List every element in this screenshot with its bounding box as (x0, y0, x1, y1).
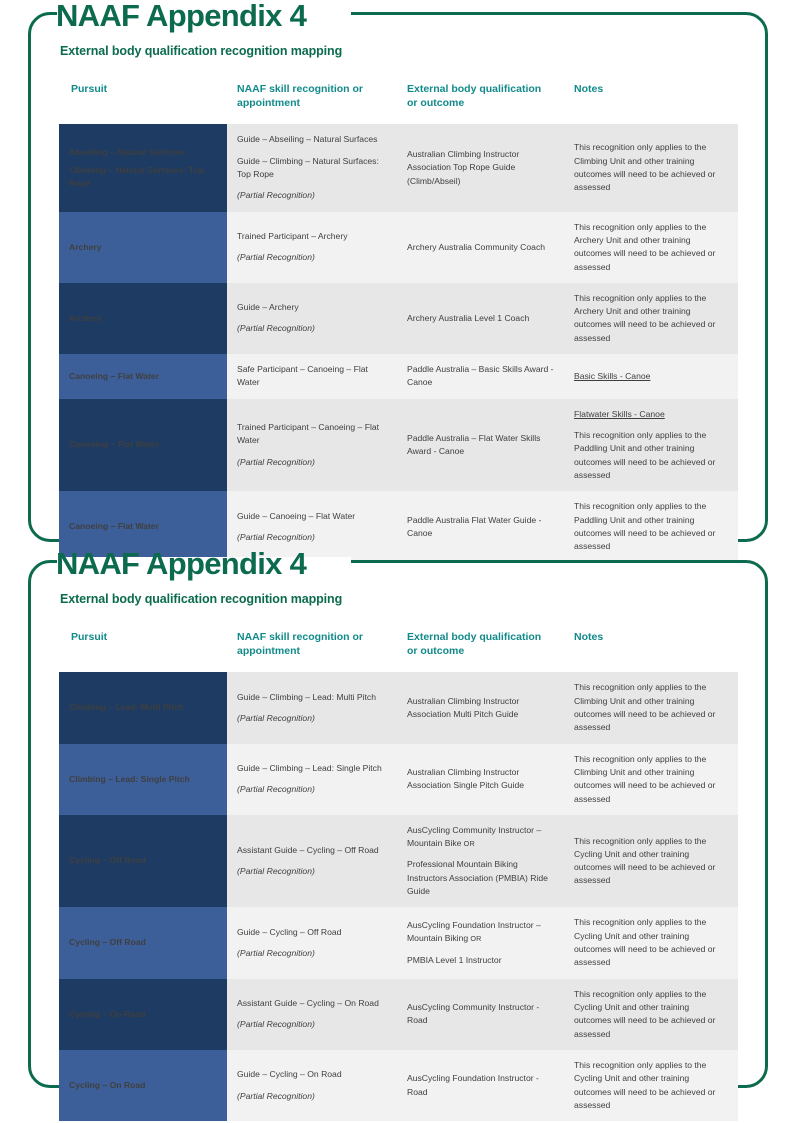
cell-notes: This recognition only applies to the Cyc… (564, 907, 738, 978)
cell-notes: Flatwater Skills - CanoeThis recognition… (564, 399, 738, 492)
cell-naaf-skill: Guide – Climbing – Lead: Single Pitch(Pa… (227, 744, 397, 815)
external-qualification-line: Professional Mountain Biking Instructors… (407, 858, 554, 898)
document-page: NAAF Appendix 4 External body qualificat… (0, 0, 794, 1123)
cell-naaf-skill: Guide – Abseiling – Natural SurfacesGuid… (227, 124, 397, 211)
column-header-external-body: External body qualification or outcome (397, 620, 564, 672)
notes-text: This recognition only applies to the Cyc… (574, 835, 728, 888)
external-qualification-line: Australian Climbing Instructor Associati… (407, 695, 554, 722)
cell-external-qualification: Australian Climbing Instructor Associati… (397, 672, 564, 743)
skill-line: Guide – Climbing – Lead: Multi Pitch (237, 691, 387, 704)
table-row: Cycling – Off RoadAssistant Guide – Cycl… (59, 815, 738, 908)
notes-text: This recognition only applies to the Arc… (574, 292, 728, 345)
cell-naaf-skill: Guide – Cycling – Off Road(Partial Recog… (227, 907, 397, 978)
table-body: Abseiling – Natural SurfacesClimbing – N… (59, 124, 738, 562)
skill-line: Guide – Abseiling – Natural Surfaces (237, 133, 387, 146)
partial-recognition-note: (Partial Recognition) (237, 322, 387, 335)
notes-text: This recognition only applies to the Cyc… (574, 1059, 728, 1112)
pursuit-line: Canoeing – Flat Water (69, 370, 217, 383)
skill-line: Trained Participant – Canoeing – Flat Wa… (237, 421, 387, 448)
partial-recognition-note: (Partial Recognition) (237, 783, 387, 796)
pursuit-line: Climbing – Natural Surfaces: Top Rope (69, 164, 217, 191)
partial-recognition-note: (Partial Recognition) (237, 1090, 387, 1103)
cell-notes: This recognition only applies to the Arc… (564, 212, 738, 283)
cell-external-qualification: AusCycling Foundation Instructor - Road (397, 1050, 564, 1121)
notes-text: This recognition only applies to the Pad… (574, 500, 728, 553)
partial-recognition-note: (Partial Recognition) (237, 712, 387, 725)
cell-external-qualification: Paddle Australia Flat Water Guide - Cano… (397, 491, 564, 562)
skill-line: Guide – Archery (237, 301, 387, 314)
notes-link[interactable]: Flatwater Skills - Canoe (574, 409, 665, 419)
pursuit-line: Cycling – On Road (69, 1008, 217, 1021)
pursuit-line: Cycling – Off Road (69, 854, 217, 867)
skill-line: Guide – Canoeing – Flat Water (237, 510, 387, 523)
qualification-mapping-table: Pursuit NAAF skill recognition or appoin… (59, 72, 738, 563)
table-row: ArcheryGuide – Archery(Partial Recogniti… (59, 283, 738, 354)
cell-external-qualification: AusCycling Community Instructor - Road (397, 979, 564, 1050)
skill-line: Assistant Guide – Cycling – On Road (237, 997, 387, 1010)
pursuit-line: Cycling – Off Road (69, 936, 217, 949)
notes-text: This recognition only applies to the Arc… (574, 221, 728, 274)
cell-naaf-skill: Assistant Guide – Cycling – On Road(Part… (227, 979, 397, 1050)
page-title: NAAF Appendix 4 (56, 548, 306, 579)
cell-external-qualification: AusCycling Community Instructor – Mounta… (397, 815, 564, 908)
external-qualification-line: AusCycling Community Instructor – Mounta… (407, 824, 554, 851)
appendix-card-2: NAAF Appendix 4 External body qualificat… (28, 560, 768, 1088)
cell-naaf-skill: Guide – Climbing – Lead: Multi Pitch(Par… (227, 672, 397, 743)
table-header-row: Pursuit NAAF skill recognition or appoin… (59, 620, 738, 672)
cell-external-qualification: Australian Climbing Instructor Associati… (397, 124, 564, 211)
cell-pursuit: Archery (59, 212, 227, 283)
appendix-card-1: NAAF Appendix 4 External body qualificat… (28, 12, 768, 542)
partial-recognition-note: (Partial Recognition) (237, 865, 387, 878)
external-qualification-line: AusCycling Foundation Instructor - Road (407, 1072, 554, 1099)
partial-recognition-note: (Partial Recognition) (237, 189, 387, 202)
cell-notes: This recognition only applies to the Cli… (564, 744, 738, 815)
cell-notes: This recognition only applies to the Pad… (564, 491, 738, 562)
cell-pursuit: Cycling – On Road (59, 1050, 227, 1121)
table-header: Pursuit NAAF skill recognition or appoin… (59, 620, 738, 672)
cell-notes: This recognition only applies to the Cli… (564, 124, 738, 211)
cell-naaf-skill: Safe Participant – Canoeing – Flat Water (227, 354, 397, 399)
external-qualification-line: Paddle Australia Flat Water Guide - Cano… (407, 514, 554, 541)
pursuit-line: Archery (69, 241, 217, 254)
column-header-external-body: External body qualification or outcome (397, 72, 564, 124)
table-row: Climbing – Lead: Single PitchGuide – Cli… (59, 744, 738, 815)
cell-naaf-skill: Guide – Archery(Partial Recognition) (227, 283, 397, 354)
table-header: Pursuit NAAF skill recognition or appoin… (59, 72, 738, 124)
page-title: NAAF Appendix 4 (56, 0, 306, 31)
pursuit-line: Archery (69, 312, 217, 325)
page-subtitle: External body qualification recognition … (60, 592, 342, 606)
cell-pursuit: Canoeing – Flat Water (59, 354, 227, 399)
notes-link-line: Flatwater Skills - Canoe (574, 408, 728, 421)
notes-text: This recognition only applies to the Pad… (574, 429, 728, 482)
table-row: Canoeing – Flat WaterSafe Participant – … (59, 354, 738, 399)
cell-naaf-skill: Assistant Guide – Cycling – Off Road(Par… (227, 815, 397, 908)
skill-line: Guide – Cycling – On Road (237, 1068, 387, 1081)
partial-recognition-note: (Partial Recognition) (237, 456, 387, 469)
external-qualification-line: Paddle Australia – Flat Water Skills Awa… (407, 432, 554, 459)
column-header-naaf-skill: NAAF skill recognition or appointment (227, 620, 397, 672)
external-qualification-line: Archery Australia Community Coach (407, 241, 554, 254)
partial-recognition-note: (Partial Recognition) (237, 1018, 387, 1031)
cell-notes: This recognition only applies to the Arc… (564, 283, 738, 354)
partial-recognition-note: (Partial Recognition) (237, 531, 387, 544)
cell-external-qualification: Paddle Australia – Basic Skills Award - … (397, 354, 564, 399)
skill-line: Guide – Climbing – Lead: Single Pitch (237, 762, 387, 775)
cell-external-qualification: AusCycling Foundation Instructor – Mount… (397, 907, 564, 978)
cell-pursuit: Climbing – Lead: Multi Pitch (59, 672, 227, 743)
table-row: Cycling – On RoadAssistant Guide – Cycli… (59, 979, 738, 1050)
cell-pursuit: Cycling – On Road (59, 979, 227, 1050)
table-row: Climbing – Lead: Multi PitchGuide – Clim… (59, 672, 738, 743)
cell-external-qualification: Archery Australia Level 1 Coach (397, 283, 564, 354)
cell-notes: This recognition only applies to the Cyc… (564, 1050, 738, 1121)
or-separator: OR (468, 934, 481, 943)
external-qualification-line: Australian Climbing Instructor Associati… (407, 148, 554, 188)
pursuit-line: Cycling – On Road (69, 1079, 217, 1092)
table-row: ArcheryTrained Participant – Archery(Par… (59, 212, 738, 283)
table-body: Climbing – Lead: Multi PitchGuide – Clim… (59, 672, 738, 1121)
table-header-row: Pursuit NAAF skill recognition or appoin… (59, 72, 738, 124)
column-header-pursuit: Pursuit (59, 72, 227, 124)
notes-text: This recognition only applies to the Cyc… (574, 988, 728, 1041)
skill-line: Trained Participant – Archery (237, 230, 387, 243)
pursuit-line: Canoeing – Flat Water (69, 438, 217, 451)
pursuit-line: Climbing – Lead: Multi Pitch (69, 701, 217, 714)
qualification-mapping-table: Pursuit NAAF skill recognition or appoin… (59, 620, 738, 1121)
or-separator: OR (461, 839, 474, 848)
notes-link-line: Basic Skills - Canoe (574, 370, 728, 383)
cell-notes: This recognition only applies to the Cli… (564, 672, 738, 743)
skill-line: Safe Participant – Canoeing – Flat Water (237, 363, 387, 390)
external-qualification-line: AusCycling Community Instructor - Road (407, 1001, 554, 1028)
cell-pursuit: Archery (59, 283, 227, 354)
cell-naaf-skill: Trained Participant – Canoeing – Flat Wa… (227, 399, 397, 492)
skill-line: Guide – Climbing – Natural Surfaces: Top… (237, 155, 387, 182)
skill-line: Assistant Guide – Cycling – Off Road (237, 844, 387, 857)
external-qualification-line: Australian Climbing Instructor Associati… (407, 766, 554, 793)
cell-pursuit: Cycling – Off Road (59, 907, 227, 978)
cell-external-qualification: Archery Australia Community Coach (397, 212, 564, 283)
cell-pursuit: Cycling – Off Road (59, 815, 227, 908)
pursuit-line: Canoeing – Flat Water (69, 520, 217, 533)
external-qualification-line: AusCycling Foundation Instructor – Mount… (407, 919, 554, 946)
partial-recognition-note: (Partial Recognition) (237, 251, 387, 264)
column-header-notes: Notes (564, 72, 738, 124)
notes-link[interactable]: Basic Skills - Canoe (574, 371, 650, 381)
table-row: Cycling – On RoadGuide – Cycling – On Ro… (59, 1050, 738, 1121)
cell-notes: Basic Skills - Canoe (564, 354, 738, 399)
cell-naaf-skill: Guide – Cycling – On Road(Partial Recogn… (227, 1050, 397, 1121)
cell-notes: This recognition only applies to the Cyc… (564, 979, 738, 1050)
skill-line: Guide – Cycling – Off Road (237, 926, 387, 939)
external-qualification-line: Archery Australia Level 1 Coach (407, 312, 554, 325)
column-header-naaf-skill: NAAF skill recognition or appointment (227, 72, 397, 124)
pursuit-line: Climbing – Lead: Single Pitch (69, 773, 217, 786)
external-qualification-line: Paddle Australia – Basic Skills Award - … (407, 363, 554, 390)
cell-naaf-skill: Trained Participant – Archery(Partial Re… (227, 212, 397, 283)
external-qualification-line: PMBIA Level 1 Instructor (407, 954, 554, 967)
column-header-notes: Notes (564, 620, 738, 672)
partial-recognition-note: (Partial Recognition) (237, 947, 387, 960)
cell-notes: This recognition only applies to the Cyc… (564, 815, 738, 908)
column-header-pursuit: Pursuit (59, 620, 227, 672)
table-row: Canoeing – Flat WaterTrained Participant… (59, 399, 738, 492)
page-subtitle: External body qualification recognition … (60, 44, 342, 58)
cell-pursuit: Canoeing – Flat Water (59, 399, 227, 492)
cell-external-qualification: Australian Climbing Instructor Associati… (397, 744, 564, 815)
notes-text: This recognition only applies to the Cli… (574, 753, 728, 806)
cell-pursuit: Climbing – Lead: Single Pitch (59, 744, 227, 815)
table-row: Abseiling – Natural SurfacesClimbing – N… (59, 124, 738, 211)
notes-text: This recognition only applies to the Cli… (574, 141, 728, 194)
table-row: Cycling – Off RoadGuide – Cycling – Off … (59, 907, 738, 978)
cell-external-qualification: Paddle Australia – Flat Water Skills Awa… (397, 399, 564, 492)
notes-text: This recognition only applies to the Cli… (574, 681, 728, 734)
cell-pursuit: Abseiling – Natural SurfacesClimbing – N… (59, 124, 227, 211)
notes-text: This recognition only applies to the Cyc… (574, 916, 728, 969)
pursuit-line: Abseiling – Natural Surfaces (69, 146, 217, 159)
